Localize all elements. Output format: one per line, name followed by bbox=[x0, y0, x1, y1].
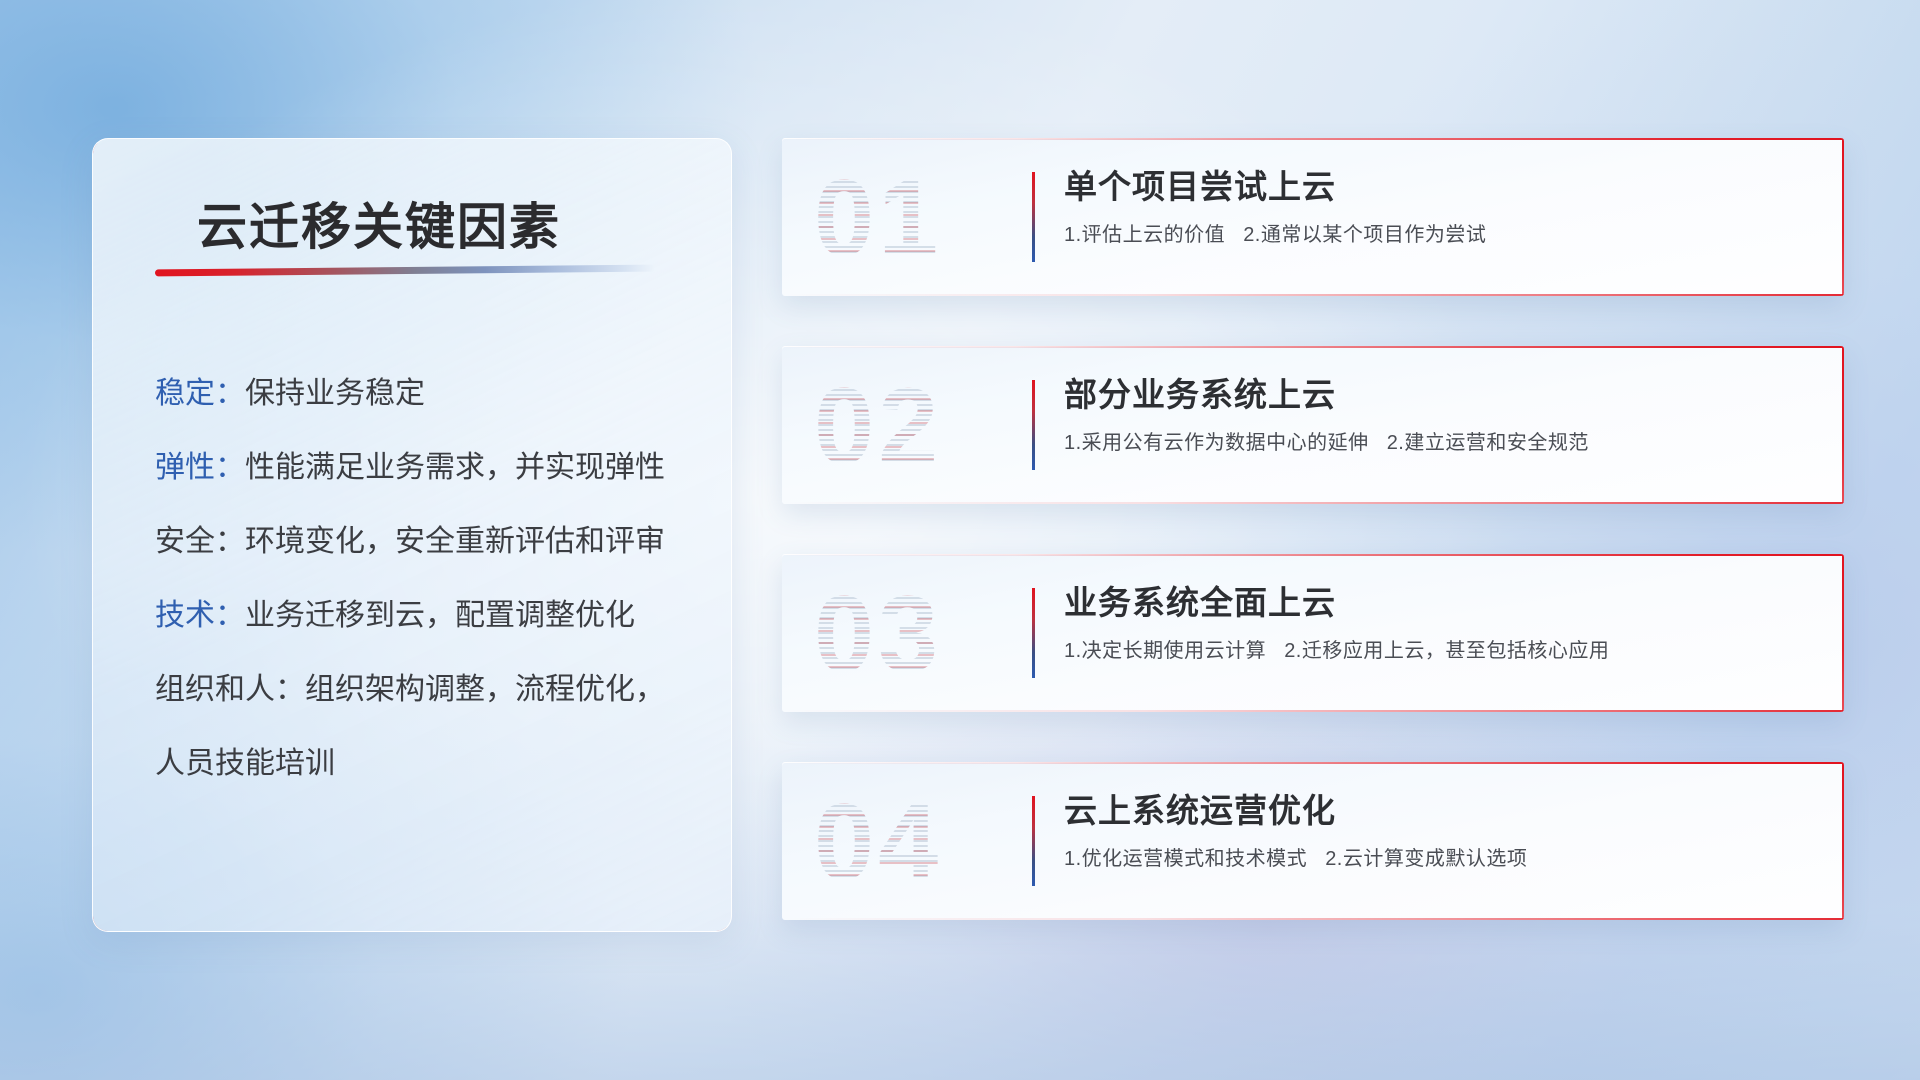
step-divider-bar bbox=[1032, 588, 1035, 678]
step-number-tint: 04 bbox=[814, 780, 1034, 904]
step-description-part-1: 1.采用公有云作为数据中心的延伸 bbox=[1064, 432, 1369, 454]
step-title: 部分业务系统上云 bbox=[1064, 372, 1820, 418]
list-item-value: 环境变化，安全重新评估和评审 bbox=[245, 525, 665, 558]
card-bottom-accent-edge bbox=[782, 502, 1844, 504]
card-top-accent-edge bbox=[782, 762, 1844, 764]
step-number-tint: 01 bbox=[814, 156, 1034, 280]
step-title: 云上系统运营优化 bbox=[1064, 788, 1820, 834]
card-bottom-accent-edge bbox=[782, 918, 1844, 920]
card-right-accent-edge bbox=[1842, 762, 1844, 920]
step-content: 业务系统全面上云 1.决定长期使用云计算2.迁移应用上云，甚至包括核心应用 bbox=[1064, 580, 1820, 666]
list-item-value: 人员技能培训 bbox=[155, 747, 335, 780]
step-content: 单个项目尝试上云 1.评估上云的价值2.通常以某个项目作为尝试 bbox=[1064, 164, 1820, 250]
card-top-accent-edge bbox=[782, 554, 1844, 556]
step-divider-bar bbox=[1032, 796, 1035, 886]
migration-steps-list: 01 01 单个项目尝试上云 1.评估上云的价值2.通常以某个项目作为尝试 02… bbox=[782, 138, 1844, 970]
list-item-key: 弹性： bbox=[155, 451, 245, 484]
step-title: 业务系统全面上云 bbox=[1064, 580, 1820, 626]
step-content: 部分业务系统上云 1.采用公有云作为数据中心的延伸2.建立运营和安全规范 bbox=[1064, 372, 1820, 458]
list-item: 技术：业务迁移到云，配置调整优化 bbox=[155, 579, 705, 653]
key-factors-panel: 云迁移关键因素 稳定：保持业务稳定 弹性：性能满足业务需求，并实现弹性 安全：环… bbox=[92, 138, 732, 932]
card-top-accent-edge bbox=[782, 138, 1844, 140]
step-description-part-2: 2.建立运营和安全规范 bbox=[1387, 432, 1589, 454]
list-item-key: 稳定： bbox=[155, 377, 245, 410]
step-description-part-2: 2.迁移应用上云，甚至包括核心应用 bbox=[1284, 640, 1609, 662]
step-description: 1.采用公有云作为数据中心的延伸2.建立运营和安全规范 bbox=[1064, 428, 1820, 458]
step-description: 1.决定长期使用云计算2.迁移应用上云，甚至包括核心应用 bbox=[1064, 636, 1820, 666]
list-item-value: 业务迁移到云，配置调整优化 bbox=[245, 599, 635, 632]
step-description-part-2: 2.通常以某个项目作为尝试 bbox=[1243, 224, 1486, 246]
card-bottom-accent-edge bbox=[782, 710, 1844, 712]
step-content: 云上系统运营优化 1.优化运营模式和技术模式2.云计算变成默认选项 bbox=[1064, 788, 1820, 874]
card-right-accent-edge bbox=[1842, 138, 1844, 296]
list-item-value: 性能满足业务需求，并实现弹性 bbox=[245, 451, 665, 484]
step-description-part-1: 1.评估上云的价值 bbox=[1064, 224, 1225, 246]
list-item-continuation: 人员技能培训 bbox=[155, 727, 705, 801]
slide-canvas: 云迁移关键因素 稳定：保持业务稳定 弹性：性能满足业务需求，并实现弹性 安全：环… bbox=[0, 0, 1920, 1080]
list-item-key: 组织和人： bbox=[155, 673, 305, 706]
step-card[interactable]: 03 03 业务系统全面上云 1.决定长期使用云计算2.迁移应用上云，甚至包括核… bbox=[782, 554, 1844, 712]
step-description-part-2: 2.云计算变成默认选项 bbox=[1325, 848, 1527, 870]
step-description-part-1: 1.优化运营模式和技术模式 bbox=[1064, 848, 1307, 870]
step-card[interactable]: 04 04 云上系统运营优化 1.优化运营模式和技术模式2.云计算变成默认选项 bbox=[782, 762, 1844, 920]
list-item: 安全：环境变化，安全重新评估和评审 bbox=[155, 505, 705, 579]
list-item-key: 技术： bbox=[155, 599, 245, 632]
step-card[interactable]: 01 01 单个项目尝试上云 1.评估上云的价值2.通常以某个项目作为尝试 bbox=[782, 138, 1844, 296]
step-description-part-1: 1.决定长期使用云计算 bbox=[1064, 640, 1266, 662]
card-top-accent-edge bbox=[782, 346, 1844, 348]
card-right-accent-edge bbox=[1842, 346, 1844, 504]
list-item-value: 组织架构调整，流程优化， bbox=[305, 673, 665, 706]
step-divider-bar bbox=[1032, 380, 1035, 470]
list-item: 组织和人：组织架构调整，流程优化， bbox=[155, 653, 705, 727]
list-item-value: 保持业务稳定 bbox=[245, 377, 425, 410]
key-factors-list: 稳定：保持业务稳定 弹性：性能满足业务需求，并实现弹性 安全：环境变化，安全重新… bbox=[155, 357, 705, 801]
list-item: 稳定：保持业务稳定 bbox=[155, 357, 705, 431]
step-number-tint: 02 bbox=[814, 364, 1034, 488]
step-description: 1.评估上云的价值2.通常以某个项目作为尝试 bbox=[1064, 220, 1820, 250]
card-right-accent-edge bbox=[1842, 554, 1844, 712]
card-bottom-accent-edge bbox=[782, 294, 1844, 296]
step-card[interactable]: 02 02 部分业务系统上云 1.采用公有云作为数据中心的延伸2.建立运营和安全… bbox=[782, 346, 1844, 504]
list-item: 弹性：性能满足业务需求，并实现弹性 bbox=[155, 431, 705, 505]
step-title: 单个项目尝试上云 bbox=[1064, 164, 1820, 210]
page-title: 云迁移关键因素 bbox=[197, 187, 561, 259]
title-underline-rule bbox=[155, 265, 655, 277]
step-number-tint: 03 bbox=[814, 572, 1034, 696]
step-divider-bar bbox=[1032, 172, 1035, 262]
list-item-key: 安全： bbox=[155, 525, 245, 558]
step-description: 1.优化运营模式和技术模式2.云计算变成默认选项 bbox=[1064, 844, 1820, 874]
